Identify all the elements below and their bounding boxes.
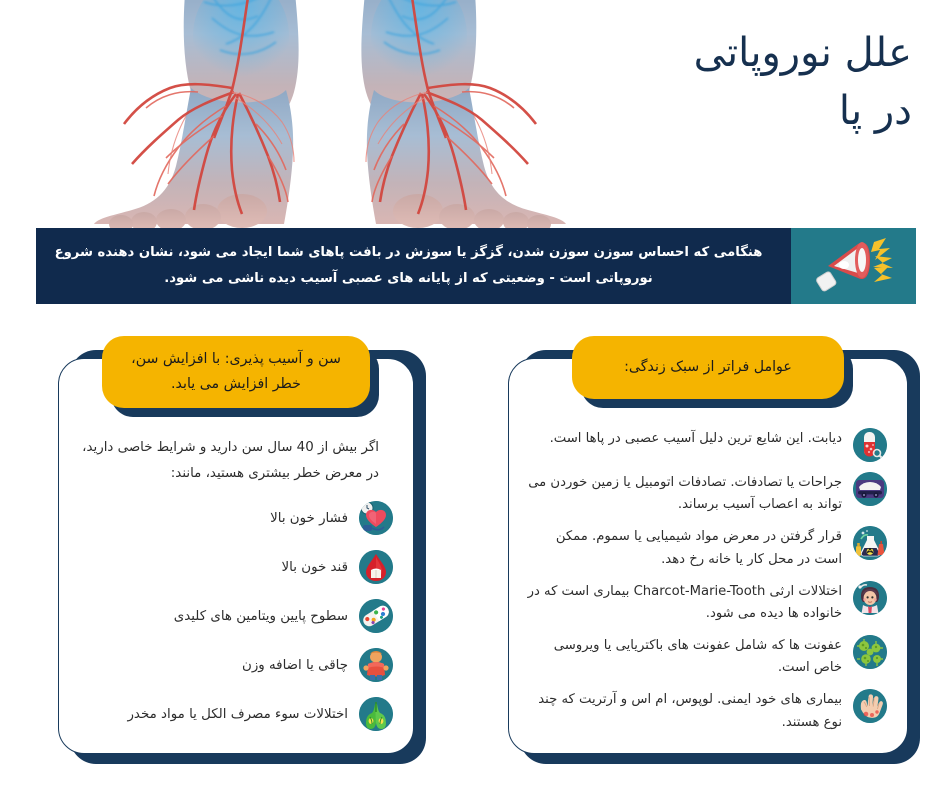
list-item-label: دیابت. این شایع ترین دلیل آسیب عصبی در پ… [550, 427, 842, 450]
page-title-line-1: علل نوروپاتی [612, 24, 912, 82]
cause-list: دیابت. این شایع ترین دلیل آسیب عصبی در پ… [525, 427, 887, 734]
left-foot [94, 0, 299, 228]
list-item-label: قرار گرفتن در معرض مواد شیمیایی یا سموم.… [525, 525, 842, 570]
list-item[interactable]: بیماری های خود ایمنی. لوپوس، ام اس و آرت… [525, 688, 887, 733]
list-item[interactable]: قند خون بالا [75, 550, 393, 584]
card-header-pill-wrap: عوامل فراتر از سبک زندگی: [508, 336, 908, 399]
anatomical-feet-illustration [36, 0, 624, 228]
card-beyond-lifestyle: دیابت. این شایع ترین دلیل آسیب عصبی در پ… [508, 336, 908, 754]
list-item-label: عفونت ها که شامل عفونت های باکتریایی یا … [525, 634, 842, 679]
list-item[interactable]: چاقی یا اضافه وزن [75, 648, 393, 682]
list-item[interactable]: سطوح پایین ویتامین های کلیدی [75, 599, 393, 633]
lungs-leaf-icon [359, 697, 393, 731]
list-item-label: سطوح پایین ویتامین های کلیدی [174, 605, 348, 629]
list-item-label: اختلالات سوء مصرف الکل یا مواد مخدر [127, 703, 348, 727]
blood-test-tube-icon [853, 428, 887, 462]
alert-banner: هنگامی که احساس سوزن سوزن شدن، گزگز یا س… [36, 228, 916, 304]
list-item[interactable]: اختلالات ارثی Charcot-Marie-Tooth بیماری… [525, 580, 887, 625]
list-item-label: جراحات یا تصادفات. تصادفات اتومبیل یا زم… [525, 471, 842, 516]
list-item-label: اختلالات ارثی Charcot-Marie-Tooth بیماری… [525, 580, 842, 625]
genetic-family-icon [853, 581, 887, 615]
list-item-label: بیماری های خود ایمنی. لوپوس، ام اس و آرت… [525, 688, 842, 733]
chemical-hazard-icon [853, 526, 887, 560]
card-header-pill-wrap: سن و آسیب پذیری: با افزایش سن، خطر افزای… [58, 336, 414, 408]
blood-drop-glucose-icon [359, 550, 393, 584]
hero-section: علل نوروپاتی در پا [0, 0, 940, 228]
page-title-line-2: در پا [612, 82, 912, 140]
list-item-label: چاقی یا اضافه وزن [242, 654, 348, 678]
alert-banner-text: هنگامی که احساس سوزن سوزن شدن، گزگز یا س… [36, 228, 791, 304]
card-body: اگر بیش از 40 سال سن دارید و شرایط خاصی … [58, 358, 414, 754]
list-item[interactable]: اختلالات سوء مصرف الکل یا مواد مخدر [75, 697, 393, 731]
right-foot [361, 0, 566, 228]
list-item-label: فشار خون بالا [270, 507, 348, 531]
card-header-label: سن و آسیب پذیری: با افزایش سن، خطر افزای… [102, 336, 370, 408]
risk-factor-list: فشار خون بالا [75, 499, 393, 731]
vitamin-capsule-icon [359, 599, 393, 633]
card-header-label: عوامل فراتر از سبک زندگی: [572, 336, 844, 399]
list-item[interactable]: فشار خون بالا [75, 501, 393, 535]
obese-person-icon [359, 648, 393, 682]
list-item[interactable]: دیابت. این شایع ترین دلیل آسیب عصبی در پ… [525, 427, 887, 462]
blood-pressure-heart-icon [359, 501, 393, 535]
card-body: دیابت. این شایع ترین دلیل آسیب عصبی در پ… [508, 358, 908, 754]
autoimmune-hand-icon [853, 689, 887, 723]
car-accident-icon [853, 472, 887, 506]
page-title: علل نوروپاتی در پا [612, 24, 912, 140]
card-intro-text: اگر بیش از 40 سال سن دارید و شرایط خاصی … [75, 435, 393, 499]
bacteria-virus-icon [853, 635, 887, 669]
list-item-label: قند خون بالا [282, 556, 348, 580]
list-item[interactable]: قرار گرفتن در معرض مواد شیمیایی یا سموم.… [525, 525, 887, 570]
megaphone-icon-box [791, 228, 916, 304]
list-item[interactable]: عفونت ها که شامل عفونت های باکتریایی یا … [525, 634, 887, 679]
card-age-vulnerability: اگر بیش از 40 سال سن دارید و شرایط خاصی … [58, 336, 414, 754]
megaphone-icon [812, 236, 896, 296]
list-item[interactable]: جراحات یا تصادفات. تصادفات اتومبیل یا زم… [525, 471, 887, 516]
